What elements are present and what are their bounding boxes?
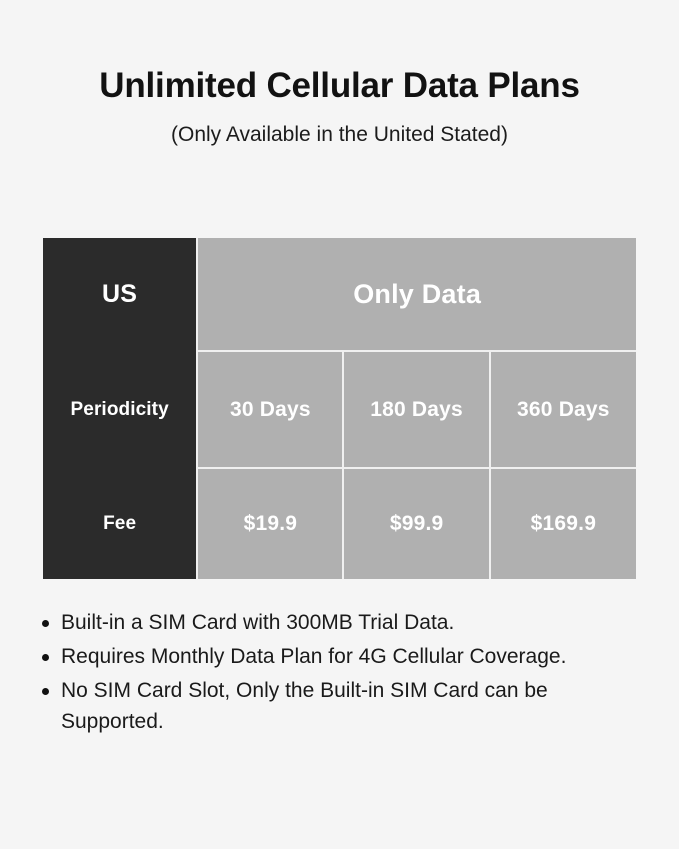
row-label-periodicity: Periodicity — [43, 351, 197, 468]
fee-value-1: $19.9 — [197, 468, 343, 579]
note-text: Requires Monthly Data Plan for 4G Cellul… — [61, 645, 566, 668]
plan-type-header-cell: Only Data — [197, 238, 636, 351]
fee-value-2: $99.9 — [343, 468, 489, 579]
periodicity-value-3: 360 Days — [490, 351, 636, 468]
bullet-icon — [42, 688, 49, 695]
list-item: Requires Monthly Data Plan for 4G Cellul… — [40, 641, 650, 672]
page-title: Unlimited Cellular Data Plans — [0, 66, 679, 106]
table-row-header: US Only Data — [43, 238, 636, 351]
row-label-fee: Fee — [43, 468, 197, 579]
region-label-cell: US — [43, 238, 197, 351]
periodicity-value-1: 30 Days — [197, 351, 343, 468]
list-item: No SIM Card Slot, Only the Built-in SIM … — [40, 675, 650, 737]
periodicity-value-2: 180 Days — [343, 351, 489, 468]
table-row: Fee $19.9 $99.9 $169.9 — [43, 468, 636, 579]
page-header: Unlimited Cellular Data Plans (Only Avai… — [0, 0, 679, 147]
notes-list: Built-in a SIM Card with 300MB Trial Dat… — [40, 607, 650, 740]
plans-table-container: US Only Data Periodicity 30 Days 180 Day… — [43, 238, 636, 579]
table-row: Periodicity 30 Days 180 Days 360 Days — [43, 351, 636, 468]
page-subtitle: (Only Available in the United Stated) — [0, 122, 679, 147]
note-text: No SIM Card Slot, Only the Built-in SIM … — [61, 679, 548, 733]
note-text: Built-in a SIM Card with 300MB Trial Dat… — [61, 611, 454, 634]
plans-table: US Only Data Periodicity 30 Days 180 Day… — [43, 238, 636, 579]
bullet-icon — [42, 654, 49, 661]
fee-value-3: $169.9 — [490, 468, 636, 579]
list-item: Built-in a SIM Card with 300MB Trial Dat… — [40, 607, 650, 638]
bullet-icon — [42, 620, 49, 627]
plans-page: Unlimited Cellular Data Plans (Only Avai… — [0, 0, 679, 849]
